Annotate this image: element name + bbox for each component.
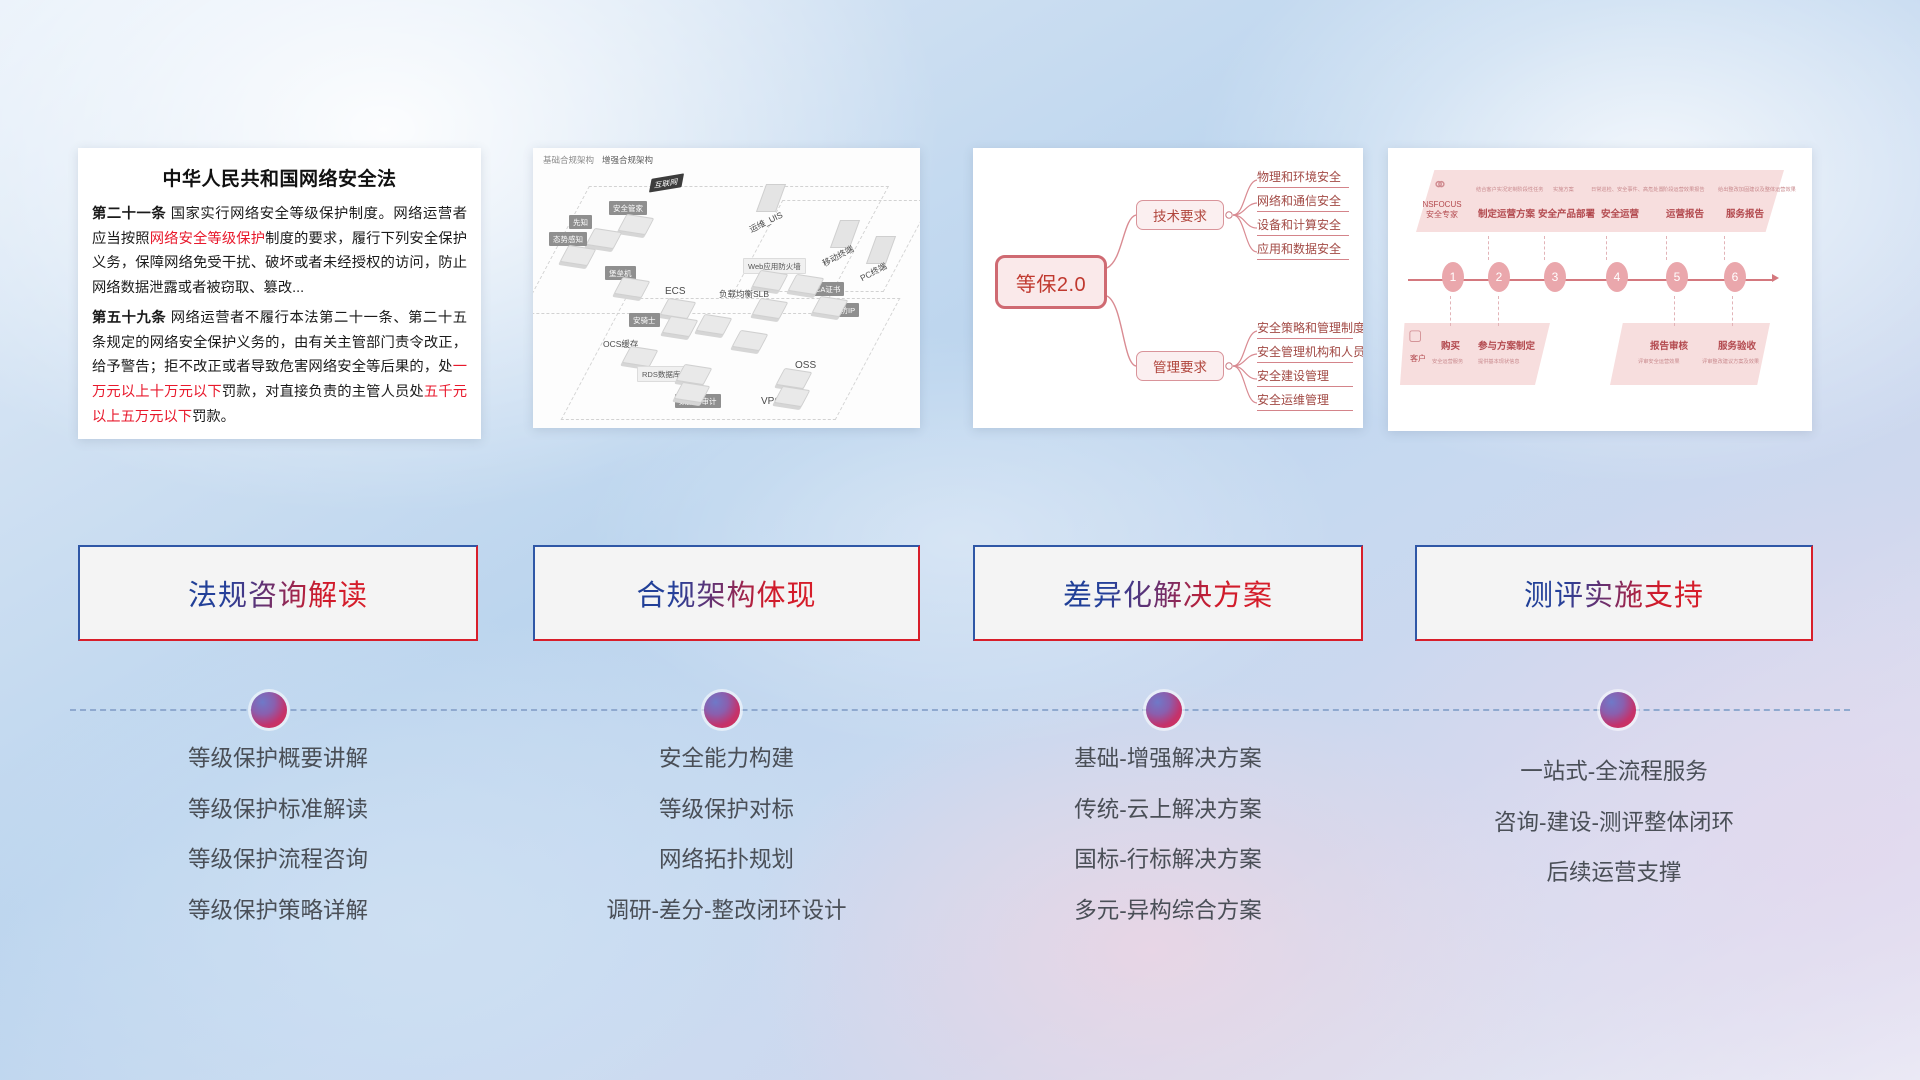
timeline-customer-label: 客户 xyxy=(1402,354,1434,364)
law-article-label-2: 第五十九条 xyxy=(92,310,166,326)
progress-timeline xyxy=(0,692,1920,728)
architecture-chip-anqishi: 安骑士 xyxy=(629,313,660,327)
timeline-tick-b6 xyxy=(1732,296,1733,326)
timeline-top-sub-1: 结合客户实况定制阶段性任务 xyxy=(1476,186,1543,193)
card-service-timeline[interactable]: ⚭ NSFOCUS 安全专家 结合客户实况定制阶段性任务 制定运营方案 实施方案… xyxy=(1388,148,1812,431)
mindmap: 等保2.0 技术要求 管理要求 物理和环境安全 网络和通信安全 设备和计算安全 … xyxy=(973,148,1363,428)
architecture-tabs[interactable]: 基础合规架构 增强合规架构 xyxy=(543,154,653,166)
card-compliance-architecture[interactable]: 基础合规架构 增强合规架构 互联网 安全管家 先知 态势感知 堡垒机 运维_UI… xyxy=(533,148,920,428)
card-mindmap-dengbao[interactable]: 等保2.0 技术要求 管理要求 物理和环境安全 网络和通信安全 设备和计算安全 … xyxy=(973,148,1363,428)
list-item: 传统-云上解决方案 xyxy=(973,799,1363,822)
list-item: 等级保护标准解读 xyxy=(78,799,478,822)
timeline-tick-6 xyxy=(1724,236,1725,260)
timeline-step-3[interactable]: 3 xyxy=(1544,262,1566,292)
mindmap-leaf-mgmt-1[interactable]: 安全策略和管理制度 xyxy=(1257,321,1353,339)
timeline-top-title-1: 制定运营方案 xyxy=(1478,206,1535,220)
mindmap-root-node[interactable]: 等保2.0 xyxy=(995,255,1107,309)
timeline-marker-2[interactable] xyxy=(704,692,740,728)
timeline-top-sub-4: 阶段运营效果报告 xyxy=(1663,186,1705,193)
timeline-top-sub-5: 给出整改加固建议及整体运营效果 xyxy=(1718,186,1796,193)
timeline-band-provider xyxy=(1416,170,1784,232)
timeline-brand: NSFOCUS 安全专家 xyxy=(1414,200,1470,219)
section-header-label-4: 测评实施支持 xyxy=(1524,572,1704,614)
timeline-bottom-title-2: 参与方案制定 xyxy=(1478,338,1535,352)
timeline-tick-3 xyxy=(1544,236,1545,260)
list-item: 等级保护对标 xyxy=(533,799,920,822)
timeline-dashed-line xyxy=(70,709,1850,711)
architecture-diagram: 基础合规架构 增强合规架构 互联网 安全管家 先知 态势感知 堡垒机 运维_UI… xyxy=(533,148,920,428)
architecture-chip-xianzhi: 先知 xyxy=(569,215,592,229)
list-item: 等级保护流程咨询 xyxy=(78,849,478,872)
law-paragraph-2: 第五十九条 网络运营者不履行本法第二十一条、第二十五条规定的网络安全保护义务的，… xyxy=(92,306,467,429)
section-header-label-3: 差异化解决方案 xyxy=(1063,572,1273,614)
timeline-step-5[interactable]: 5 xyxy=(1666,262,1688,292)
timeline-tick-b2 xyxy=(1498,296,1499,326)
mindmap-leaf-tech-1[interactable]: 物理和环境安全 xyxy=(1257,170,1349,188)
timeline-bottom-sub-3: 评审安全运营效果 xyxy=(1638,358,1680,365)
list-item: 后续运营支撑 xyxy=(1415,862,1813,885)
timeline-top-title-3: 安全运营 xyxy=(1601,206,1639,220)
law-article-label-1: 第二十一条 xyxy=(92,206,166,222)
list-item: 基础-增强解决方案 xyxy=(973,748,1363,771)
list-item: 网络拓扑规划 xyxy=(533,849,920,872)
section-header-label-1: 法规咨询解读 xyxy=(188,572,368,614)
timeline-step-1[interactable]: 1 xyxy=(1442,262,1464,292)
section-items-compliance-architecture: 安全能力构建 等级保护对标 网络拓扑规划 调研-差分-整改闭环设计 xyxy=(533,748,920,950)
timeline-step-4[interactable]: 4 xyxy=(1606,262,1628,292)
timeline-axis-arrow-icon xyxy=(1772,274,1779,282)
law-paragraph-1: 第二十一条 国家实行网络安全等级保护制度。网络运营者应当按照网络安全等级保护制度… xyxy=(92,202,467,300)
timeline-bottom-title-4: 服务验收 xyxy=(1718,338,1756,352)
mindmap-branch-management[interactable]: 管理要求 xyxy=(1136,351,1224,381)
timeline-top-sub-2: 实施方案 xyxy=(1553,186,1574,193)
law-run-1-1: 网络安全等级保护 xyxy=(150,231,265,247)
mindmap-leaf-mgmt-3[interactable]: 安全建设管理 xyxy=(1257,369,1353,387)
architecture-label-ecs: ECS xyxy=(665,286,686,297)
section-items-assessment-support: 一站式-全流程服务 咨询-建设-测评整体闭环 后续运营支撑 xyxy=(1415,748,1813,913)
mindmap-branch-technical[interactable]: 技术要求 xyxy=(1136,200,1224,230)
architecture-tab-enhanced[interactable]: 增强合规架构 xyxy=(602,154,653,166)
law-run-2-4: 罚款。 xyxy=(192,409,235,425)
list-item: 国标-行标解决方案 xyxy=(973,849,1363,872)
timeline-top-title-4: 运营报告 xyxy=(1666,206,1704,220)
mindmap-leaf-tech-4[interactable]: 应用和数据安全 xyxy=(1257,242,1349,260)
timeline-tick-b1 xyxy=(1450,296,1451,326)
list-item: 等级保护策略详解 xyxy=(78,900,478,923)
section-header-label-2: 合规架构体现 xyxy=(636,572,816,614)
section-items-differentiated-solution: 基础-增强解决方案 传统-云上解决方案 国标-行标解决方案 多元-异构综合方案 xyxy=(973,748,1363,950)
timeline-bottom-sub-1: 安全运营服务 xyxy=(1432,358,1463,365)
section-header-regulation-consulting[interactable]: 法规咨询解读 xyxy=(78,545,478,641)
list-item: 等级保护概要讲解 xyxy=(78,748,478,771)
law-title: 中华人民共和国网络安全法 xyxy=(92,164,467,191)
section-items-regulation-consulting: 等级保护概要讲解 等级保护标准解读 等级保护流程咨询 等级保护策略详解 xyxy=(78,748,478,950)
law-body: 中华人民共和国网络安全法 第二十一条 国家实行网络安全等级保护制度。网络运营者应… xyxy=(78,148,481,437)
section-items-row: 等级保护概要讲解 等级保护标准解读 等级保护流程咨询 等级保护策略详解 安全能力… xyxy=(0,748,1920,978)
service-timeline: ⚭ NSFOCUS 安全专家 结合客户实况定制阶段性任务 制定运营方案 实施方案… xyxy=(1388,148,1812,431)
expert-avatar-icon: ⚭ xyxy=(1432,176,1448,195)
section-header-assessment-support[interactable]: 测评实施支持 xyxy=(1415,545,1813,641)
timeline-marker-4[interactable] xyxy=(1600,692,1636,728)
timeline-bottom-title-3: 报告审核 xyxy=(1650,338,1688,352)
timeline-bottom-sub-4: 评审整改建议方案及效果 xyxy=(1702,358,1759,365)
mindmap-leaf-tech-2[interactable]: 网络和通信安全 xyxy=(1257,194,1349,212)
list-item: 调研-差分-整改闭环设计 xyxy=(533,900,920,923)
timeline-marker-3[interactable] xyxy=(1146,692,1182,728)
timeline-step-6[interactable]: 6 xyxy=(1724,262,1746,292)
section-header-compliance-architecture[interactable]: 合规架构体现 xyxy=(533,545,920,641)
list-item: 安全能力构建 xyxy=(533,748,920,771)
timeline-tick-4 xyxy=(1606,236,1607,260)
timeline-tick-2 xyxy=(1488,236,1489,260)
timeline-step-2[interactable]: 2 xyxy=(1488,262,1510,292)
customer-avatar-icon: ▢ xyxy=(1408,328,1422,343)
timeline-marker-1[interactable] xyxy=(251,692,287,728)
timeline-top-title-2: 安全产品部署 xyxy=(1538,206,1595,220)
mindmap-leaf-mgmt-4[interactable]: 安全运维管理 xyxy=(1257,393,1353,411)
timeline-brand-line1: NSFOCUS xyxy=(1414,200,1470,210)
timeline-top-sub-3: 日常巡检、安全事件、高危处置 xyxy=(1591,186,1664,193)
timeline-brand-line2: 安全专家 xyxy=(1414,210,1470,220)
mindmap-leaf-mgmt-2[interactable]: 安全管理机构和人员 xyxy=(1257,345,1353,363)
law-run-2-2: 罚款，对直接负责的主管人员处 xyxy=(222,384,424,400)
timeline-tick-5 xyxy=(1666,236,1667,260)
list-item: 一站式-全流程服务 xyxy=(1415,761,1813,784)
timeline-top-title-5: 服务报告 xyxy=(1726,206,1764,220)
architecture-chip-security-butler: 安全管家 xyxy=(609,201,647,215)
timeline-bottom-title-1: 购买 xyxy=(1441,338,1460,352)
timeline-bottom-sub-2: 提供基本现状信息 xyxy=(1478,358,1520,365)
card-cybersecurity-law[interactable]: 中华人民共和国网络安全法 第二十一条 国家实行网络安全等级保护制度。网络运营者应… xyxy=(78,148,481,439)
architecture-chip-situation-awareness: 态势感知 xyxy=(549,232,587,246)
timeline-band-customer-right xyxy=(1610,323,1770,385)
card-row: 中华人民共和国网络安全法 第二十一条 国家实行网络安全等级保护制度。网络运营者应… xyxy=(0,148,1920,443)
architecture-tab-basic[interactable]: 基础合规架构 xyxy=(543,154,594,166)
timeline-tick-b5 xyxy=(1674,296,1675,326)
section-header-differentiated-solution[interactable]: 差异化解决方案 xyxy=(973,545,1363,641)
mindmap-leaf-tech-3[interactable]: 设备和计算安全 xyxy=(1257,218,1349,236)
list-item: 多元-异构综合方案 xyxy=(973,900,1363,923)
list-item: 咨询-建设-测评整体闭环 xyxy=(1415,812,1813,835)
section-header-row: 法规咨询解读 合规架构体现 差异化解决方案 测评实施支持 xyxy=(0,545,1920,643)
